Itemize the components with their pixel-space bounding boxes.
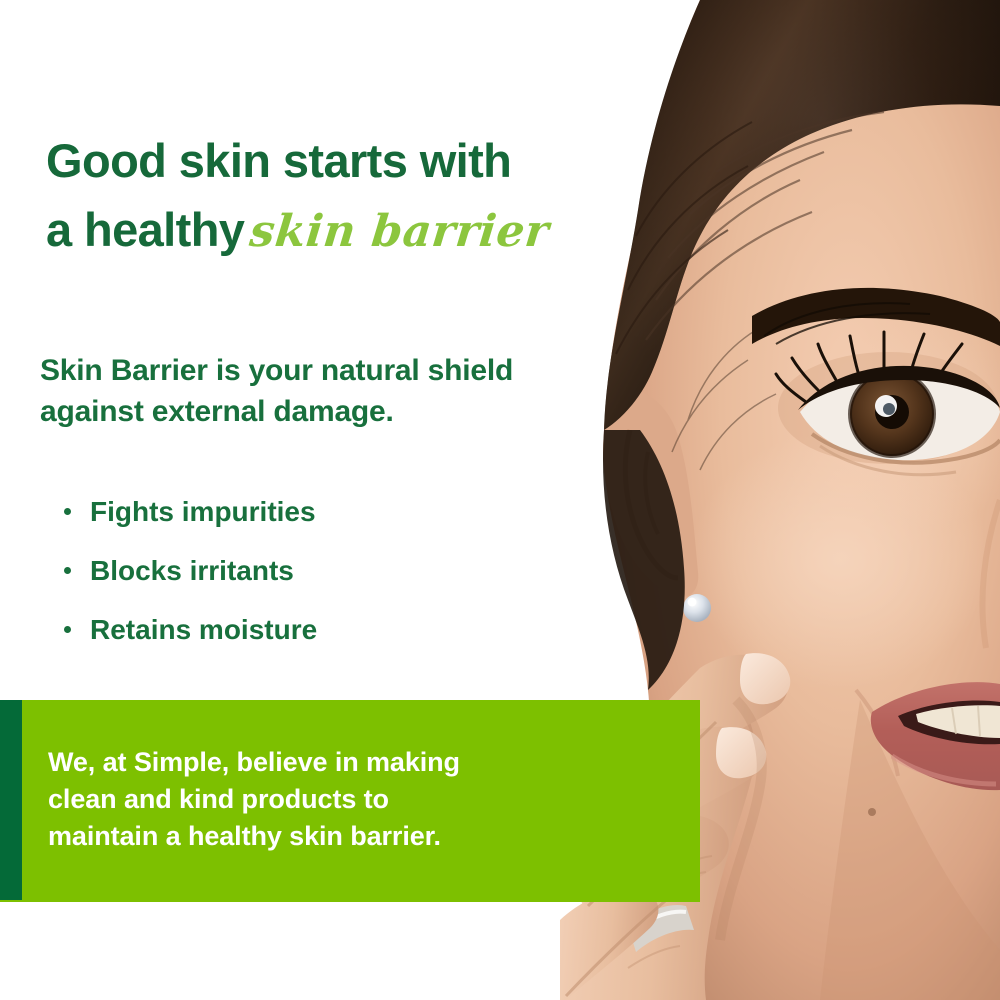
brand-statement-text: We, at Simple, believe in making clean a… bbox=[48, 744, 608, 855]
benefit-item-0: Fights impurities bbox=[62, 495, 582, 529]
benefit-label: Blocks irritants bbox=[90, 555, 294, 586]
subheadline: Skin Barrier is your natural shield agai… bbox=[40, 350, 600, 432]
benefit-item-2: Retains moisture bbox=[62, 613, 582, 647]
subheadline-line-2: against external damage. bbox=[40, 391, 600, 432]
banner-line-3: maintain a healthy skin barrier. bbox=[48, 818, 608, 855]
benefits-list: Fights impurities Blocks irritants Retai… bbox=[62, 495, 582, 672]
banner-accent-stripe bbox=[0, 700, 22, 900]
banner-line-1: We, at Simple, believe in making bbox=[48, 744, 608, 781]
banner-line-2: clean and kind products to bbox=[48, 781, 608, 818]
headline-script-accent: skin barrier bbox=[241, 197, 553, 266]
bullet-dot-icon bbox=[64, 626, 71, 633]
bullet-dot-icon bbox=[64, 508, 71, 515]
headline: Good skin starts with a healthyskin barr… bbox=[46, 126, 646, 266]
headline-line-2: a healthyskin barrier bbox=[46, 195, 646, 266]
bullet-dot-icon bbox=[64, 567, 71, 574]
headline-line-1: Good skin starts with bbox=[46, 126, 646, 195]
benefit-label: Fights impurities bbox=[90, 496, 316, 527]
benefit-item-1: Blocks irritants bbox=[62, 554, 582, 588]
skincare-ad-banner: Good skin starts with a healthyskin barr… bbox=[0, 0, 1000, 1000]
subheadline-line-1: Skin Barrier is your natural shield bbox=[40, 350, 600, 391]
benefit-label: Retains moisture bbox=[90, 614, 317, 645]
headline-line-2-plain: a healthy bbox=[46, 203, 244, 256]
